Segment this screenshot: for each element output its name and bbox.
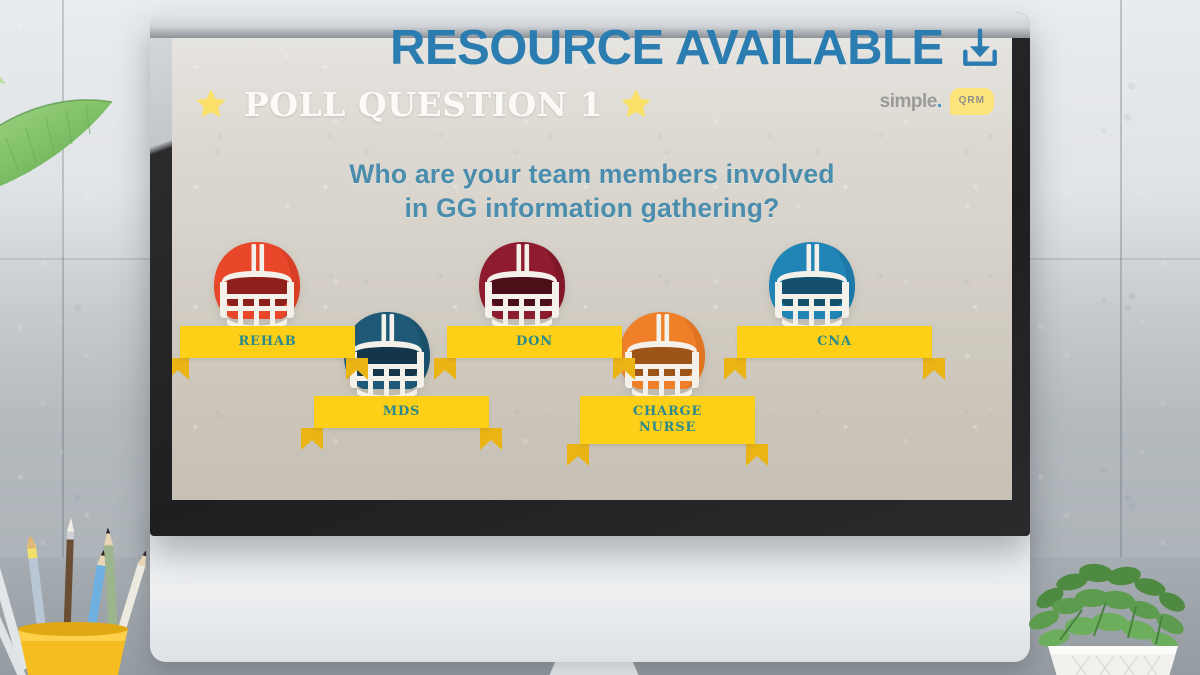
banner-ribbon-tail xyxy=(480,428,502,450)
option-label: DON xyxy=(447,326,622,358)
page-title: POLL QUESTION 1 xyxy=(244,85,603,124)
helmet-graphic xyxy=(207,238,307,334)
logo-qrm-badge: QRM xyxy=(950,88,994,115)
banner-ribbon-tail xyxy=(923,358,945,380)
banner-ribbon-tail xyxy=(434,358,456,380)
monitor-chin xyxy=(150,518,1030,662)
logo-wordmark: simple. xyxy=(880,91,942,113)
helmet-graphic xyxy=(612,308,712,404)
banner-ribbon-tail xyxy=(567,444,589,466)
logo-word-text: simple xyxy=(880,91,937,112)
option-label: CNA xyxy=(737,326,932,358)
banner-ribbon-tail xyxy=(746,444,768,466)
scene-backdrop: POLL QUESTION 1 simple. QRM Who are your… xyxy=(0,0,1200,675)
desktop-monitor: POLL QUESTION 1 simple. QRM Who are your… xyxy=(150,12,1030,632)
option-banner[interactable]: CHARGENURSE xyxy=(580,396,755,444)
question-line-2: in GG information gathering? xyxy=(172,192,1012,226)
football-helmet-icon xyxy=(207,238,307,334)
option-label: CHARGENURSE xyxy=(580,396,755,444)
brand-logo: simple. QRM xyxy=(880,88,994,115)
banner-ribbon-tail xyxy=(613,358,635,380)
option-banner[interactable]: CNA xyxy=(737,326,932,358)
wall-seam-vertical-mid xyxy=(1120,0,1122,560)
option-label: MDS xyxy=(314,396,489,428)
overlay-label: RESOURCE AVAILABLE xyxy=(390,24,944,73)
presentation-slide: POLL QUESTION 1 simple. QRM Who are your… xyxy=(172,38,1012,500)
pencil-cup xyxy=(0,500,176,675)
option-label: REHAB xyxy=(180,326,355,358)
football-helmet-icon xyxy=(612,308,712,404)
option-banner[interactable]: MDS xyxy=(314,396,489,428)
potted-succulent xyxy=(1020,540,1200,675)
slide-title-row: POLL QUESTION 1 xyxy=(194,82,694,126)
question-line-1: Who are your team members involved xyxy=(172,158,1012,192)
banner-ribbon-tail xyxy=(301,428,323,450)
banner-ribbon-tail xyxy=(346,358,368,380)
football-helmet-icon xyxy=(762,238,862,334)
resource-available-overlay: RESOURCE AVAILABLE xyxy=(390,24,1002,73)
helmet-graphic xyxy=(472,238,572,334)
option-banner[interactable]: DON xyxy=(447,326,622,358)
star-icon xyxy=(619,87,653,121)
poll-question: Who are your team members involved in GG… xyxy=(172,158,1012,226)
helmet-graphic xyxy=(762,238,862,334)
banner-ribbon-tail xyxy=(172,358,189,380)
download-icon[interactable] xyxy=(958,27,1002,71)
logo-dot: . xyxy=(937,91,942,112)
football-helmet-icon xyxy=(472,238,572,334)
option-banner[interactable]: REHAB xyxy=(180,326,355,358)
palm-leaf xyxy=(0,40,200,230)
banner-ribbon-tail xyxy=(724,358,746,380)
